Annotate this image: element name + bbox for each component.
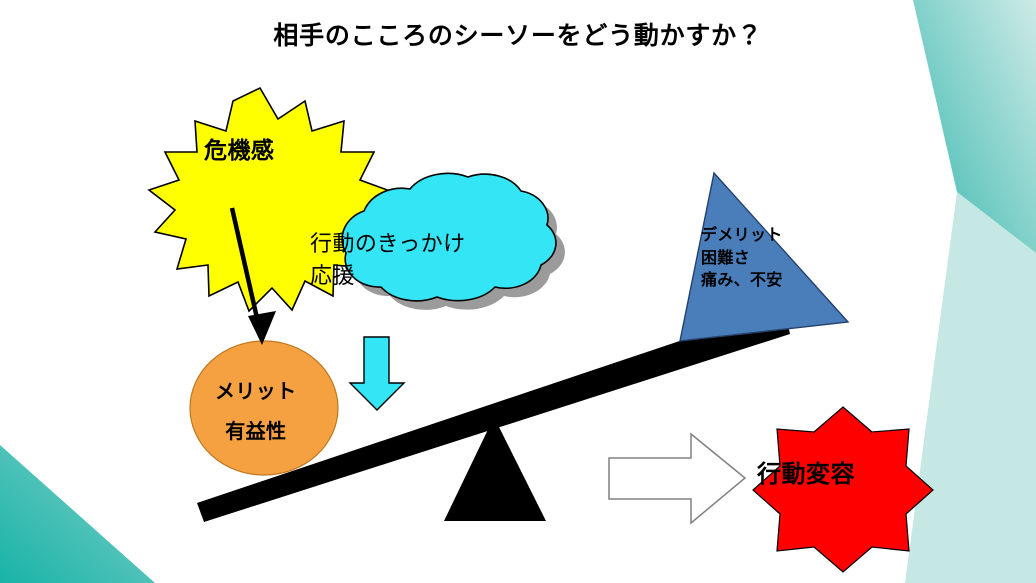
behavior-change-arrow xyxy=(609,434,745,523)
crisis-starburst-label: 危機感 xyxy=(204,136,274,165)
demerit-triangle-label: デメリット 困難さ 痛み、不安 xyxy=(701,225,783,293)
slide-canvas: 相手のこころのシーソーをどう動かすか？ 危機感 行動のきっかけ 応援 デメリット… xyxy=(0,0,1036,583)
behavior-change-star-label: 行動変容 xyxy=(757,460,855,491)
merit-circle-label: メリット 有益性 xyxy=(215,372,297,452)
down-arrow xyxy=(350,337,404,410)
page-title: 相手のこころのシーソーをどう動かすか？ xyxy=(0,20,1036,52)
diagram-artwork xyxy=(0,0,1036,583)
cloud-label: 行動のきっかけ 応援 xyxy=(310,228,466,292)
